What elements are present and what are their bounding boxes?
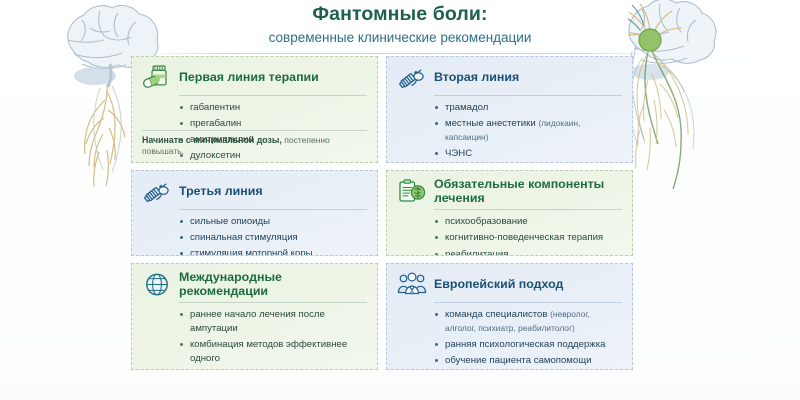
card-title: Обязательные компоненты лечения [434,178,622,205]
card-header: Третья линия [142,178,367,205]
list-item: ЧЭНС [435,147,622,163]
list-item: сильные опиоиды [180,215,367,231]
list-item: обучение пациента самопомощи [435,354,622,370]
card-header: Вторая линия [397,64,622,91]
card-title: Первая линия терапии [179,71,319,85]
list-item: стимуляция моторной коры [180,247,367,256]
card-header: Европейский подход [397,271,622,298]
card-list: психообразование когнитивно-поведенческа… [397,215,622,256]
pill-bottle-icon [142,64,172,91]
card-third-line: Третья линия сильные опиоиды спинальная … [131,170,378,256]
footnote-strong: Начинать с минимальной дозы, [142,135,282,145]
page-title: Фантомные боли: [140,2,660,26]
list-item: зеркальная терапия — безопасный метод пе… [180,368,367,370]
globe-icon [142,271,172,298]
card-mandatory-components: Обязательные компоненты лечения психообр… [386,170,633,256]
list-item: команда специалистов (невролог, алголог,… [435,308,622,338]
list-item: когнитивно-поведенческая терапия [435,231,622,247]
list-item: комбинация методов эффективнее одного [180,338,367,368]
list-item: психообразование [435,215,622,231]
card-title-divider [434,95,622,96]
card-european-approach: Европейский подход команда специалистов … [386,263,633,370]
syringe-icon [397,64,427,91]
card-international-guidelines: Международные рекомендации раннее начало… [131,263,378,370]
card-title-divider [179,95,367,96]
card-header: Международные рекомендации [142,271,367,298]
card-header: Обязательные компоненты лечения [397,178,622,205]
clipboard-brain-icon [397,178,427,205]
card-list: команда специалистов (невролог, алголог,… [397,308,622,370]
card-list: сильные опиоиды спинальная стимуляция ст… [142,215,367,256]
card-grid: Первая линия терапии габапентин прегабал… [131,56,655,370]
card-list: трамадол местные анестетики (лидокаин, к… [397,101,622,163]
page-subtitle: современные клинические рекомендации [140,29,660,47]
card-header: Первая линия терапии [142,64,367,91]
list-item: ранняя психологическая поддержка [435,338,622,354]
header-divider [140,53,660,54]
list-item: трамадол [435,101,622,117]
card-list: раннее начало лечения после ампутации ко… [142,308,367,370]
list-item: спинальная стимуляция [180,231,367,247]
infographic-canvas: Фантомные боли: современные клинические … [0,0,800,400]
card-title: Третья линия [179,185,263,199]
medical-team-icon [397,271,427,298]
card-title-divider [179,302,367,303]
list-item: раннее начало лечения после ампутации [180,308,367,338]
card-footnote: Начинать с минимальной дозы, постепенно … [142,130,367,156]
card-title: Европейский подход [434,278,563,292]
card-title-divider [434,209,622,210]
card-title-divider [434,302,622,303]
card-title: Международные рекомендации [179,271,367,298]
card-first-line: Первая линия терапии габапентин прегабал… [131,56,378,163]
header: Фантомные боли: современные клинические … [140,2,660,54]
card-title: Вторая линия [434,71,519,85]
card-second-line: Вторая линия трамадол местные анестетики… [386,56,633,163]
list-item: габапентин [180,101,367,117]
list-item: реабилитация [435,248,622,257]
list-item: местные анестетики (лидокаин, капсаицин) [435,117,622,147]
syringe-icon [142,178,172,205]
card-title-divider [179,209,367,210]
